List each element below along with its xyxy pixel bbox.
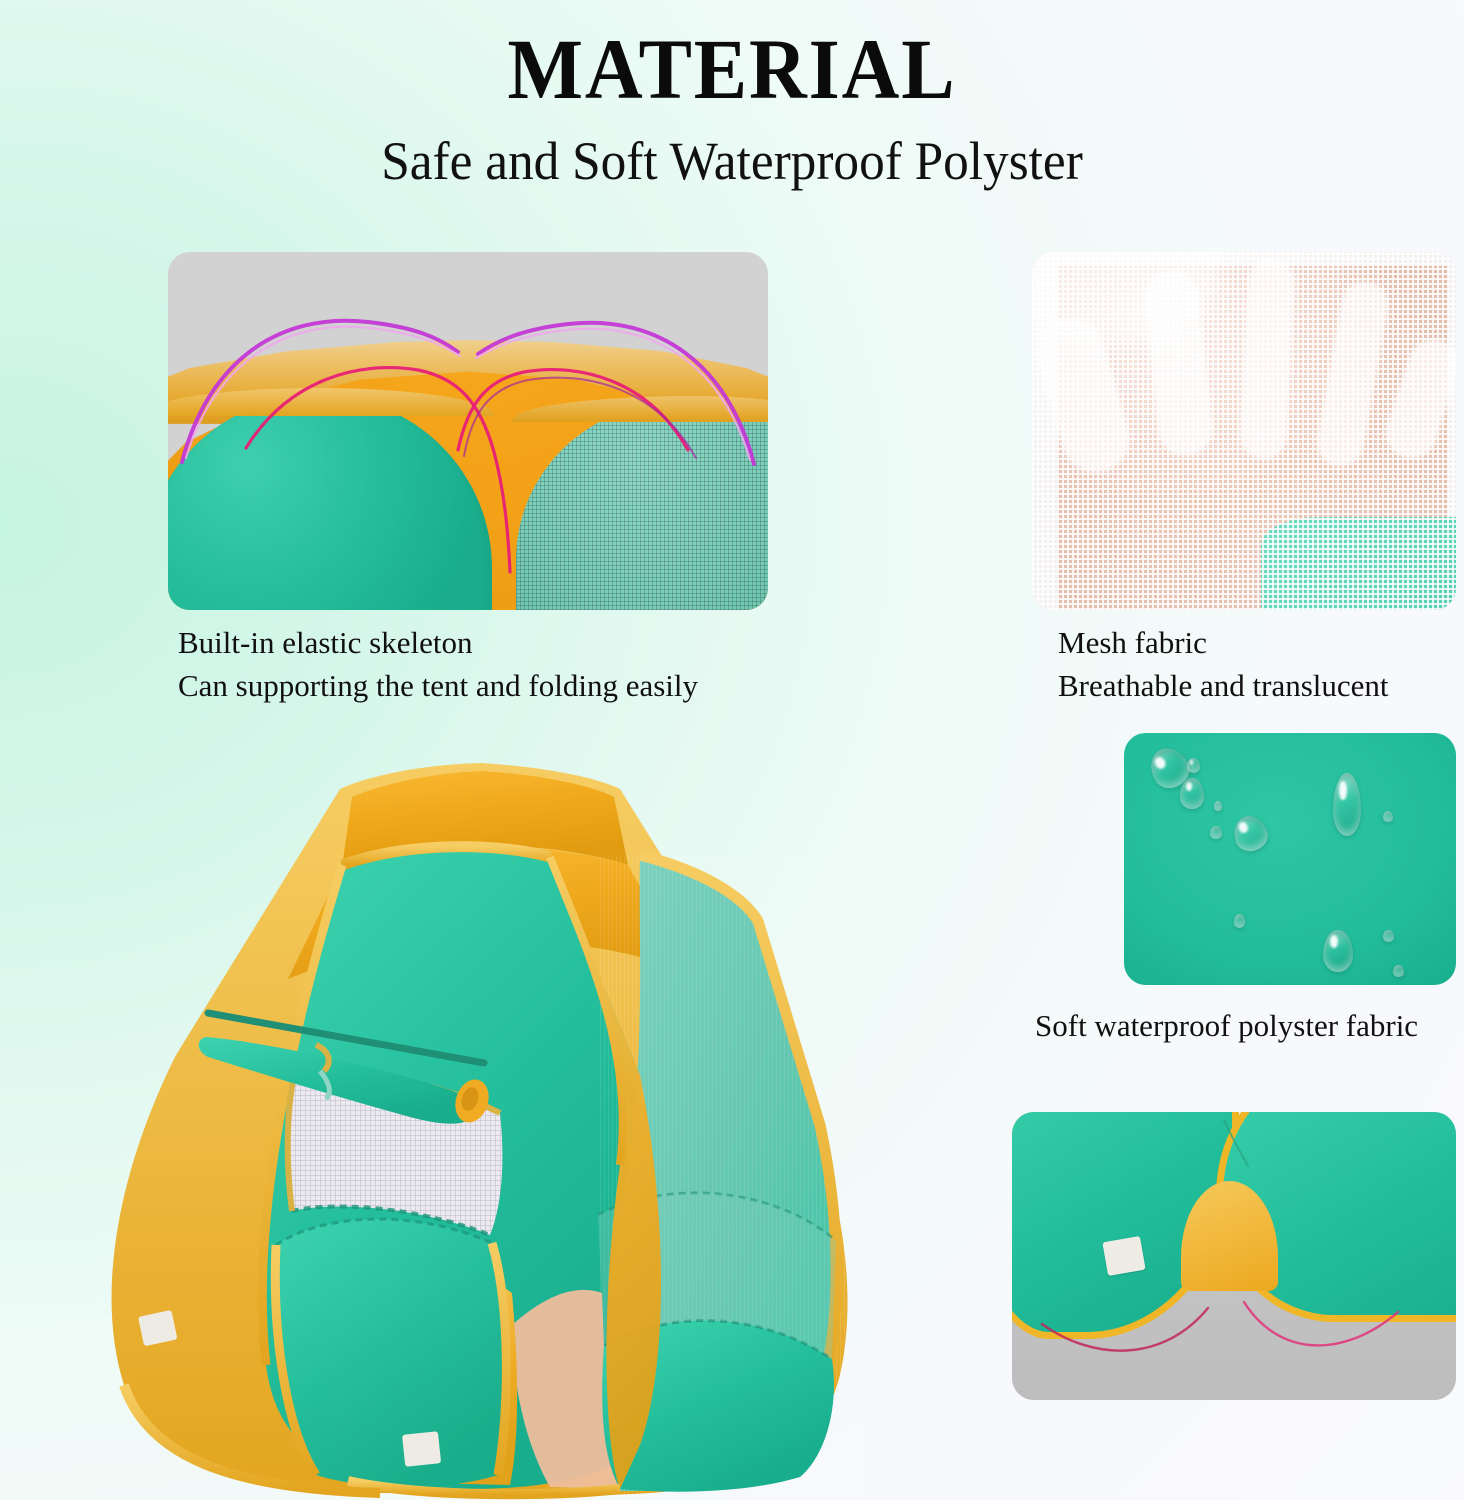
water-drop [1323,930,1353,973]
panel-mesh-closeup [1032,252,1456,610]
page-subtitle: Safe and Soft Waterproof Polyster [37,134,1428,188]
panel-waterproof-droplets [1124,733,1456,985]
caption-mesh: Mesh fabric Breathable and translucent [1058,622,1464,708]
water-drop [1234,914,1246,928]
tent-illustration [80,745,880,1500]
caption-skeleton: Built-in elastic skeleton Can supporting… [178,622,778,708]
mesh-highlight [1032,252,1456,610]
header: MATERIAL Safe and Soft Waterproof Polyst… [0,26,1464,188]
water-drop [1187,758,1200,773]
panel-skeleton-closeup [168,252,768,610]
velcro-patch [1103,1236,1146,1276]
panel-base-closeup [1012,1112,1456,1400]
infographic-page: MATERIAL Safe and Soft Waterproof Polyst… [0,0,1464,1500]
caption-waterproof: Soft waterproof polyster fabric [1035,1005,1464,1048]
water-drop [1214,801,1223,811]
water-drop [1393,965,1404,978]
water-drop [1180,778,1203,808]
page-title: MATERIAL [51,26,1413,112]
main-tent-image [80,745,880,1500]
water-drop [1383,930,1394,943]
water-drop [1333,773,1361,836]
water-drop [1229,812,1271,856]
water-drop [1210,826,1221,839]
water-drop [1383,811,1393,822]
